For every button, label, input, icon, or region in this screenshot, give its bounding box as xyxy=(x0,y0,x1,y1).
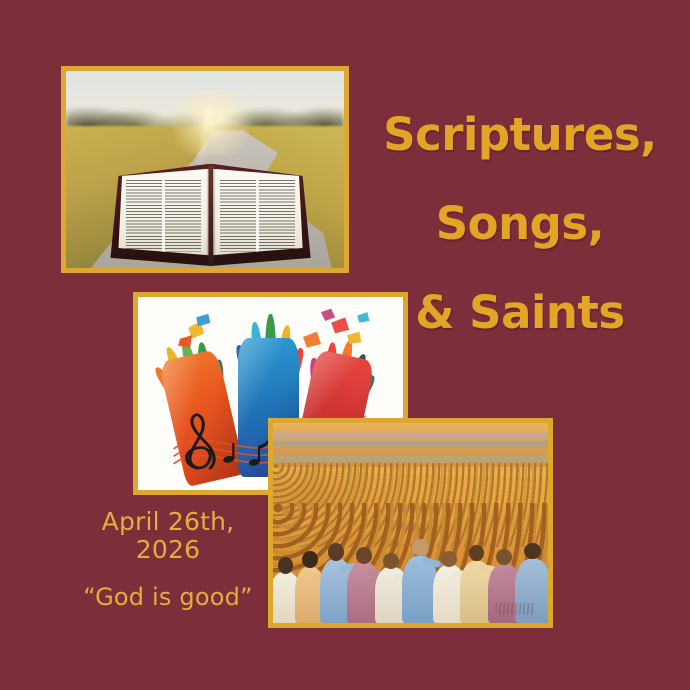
event-poster: Scriptures, Songs, & Saints April 26th, … xyxy=(0,0,690,690)
crowd-scene xyxy=(273,423,548,623)
title-line-3: & Saints xyxy=(360,290,680,335)
bible-text-right xyxy=(220,180,296,252)
event-quote: “God is good” xyxy=(58,583,278,611)
image-open-bible-on-path xyxy=(61,66,349,273)
bible-spine xyxy=(208,166,214,264)
page-title: Scriptures, Songs, & Saints xyxy=(360,112,680,335)
sun-glow xyxy=(163,89,258,156)
bible-page-right xyxy=(213,169,303,259)
title-line-1: Scriptures, xyxy=(360,112,680,157)
artist-signature xyxy=(496,603,535,615)
bible-scene xyxy=(66,71,344,268)
title-line-2: Songs, xyxy=(360,201,680,246)
image-crowd-of-people-embracing-painting xyxy=(268,418,553,628)
event-date-line-1: April 26th, xyxy=(58,508,278,536)
event-date: April 26th, 2026 xyxy=(58,508,278,564)
bible-text-left xyxy=(126,180,202,252)
event-date-line-2: 2026 xyxy=(58,536,278,564)
open-bible xyxy=(110,164,310,266)
bible-page-left xyxy=(118,169,208,259)
